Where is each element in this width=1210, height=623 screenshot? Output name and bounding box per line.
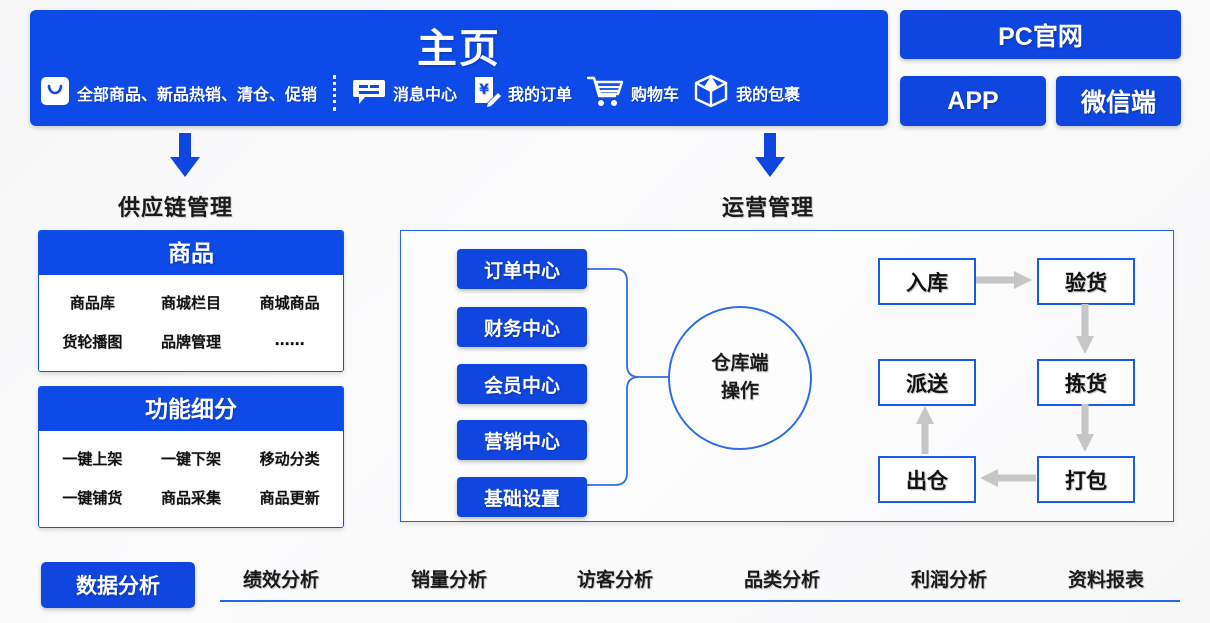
package-box-icon	[693, 74, 729, 113]
card-cell[interactable]: 一键上架	[43, 439, 142, 478]
nav-item-message-center[interactable]: 消息中心	[352, 76, 457, 111]
card-function-body: 一键上架 一键下架 移动分类 一键铺货 商品采集 商品更新	[39, 431, 343, 527]
card-cell[interactable]: 商品库	[43, 283, 142, 322]
pc-official-site-button[interactable]: PC官网	[900, 10, 1181, 59]
nav-item-all-products[interactable]: 全部商品、新品热销、清仓、促销	[40, 76, 317, 111]
tab-sales-analysis[interactable]: 销量分析	[411, 565, 487, 592]
nav-item-my-orders[interactable]: ¥ 我的订单	[471, 75, 572, 112]
card-cell[interactable]: 商品采集	[142, 478, 241, 517]
nav-label-message-center: 消息中心	[393, 81, 457, 105]
ops-button-member-center[interactable]: 会员中心	[457, 364, 587, 404]
arrow-down-picking-to-packing	[1074, 404, 1096, 454]
tab-data-report[interactable]: 资料报表	[1068, 565, 1144, 592]
flow-box-inspect[interactable]: 验货	[1037, 258, 1135, 305]
card-row: 一键上架 一键下架 移动分类	[43, 439, 339, 478]
operations-panel: 订单中心 财务中心 会员中心 营销中心 基础设置 仓库端 操作 入库 验货 派送…	[400, 230, 1174, 522]
flow-box-picking[interactable]: 拣货	[1037, 359, 1135, 406]
ops-button-marketing-center[interactable]: 营销中心	[457, 420, 587, 460]
flow-box-inbound[interactable]: 入库	[878, 258, 976, 305]
card-cell[interactable]: 一键铺货	[43, 478, 142, 517]
card-cell[interactable]: 品牌管理	[142, 322, 241, 361]
card-cell[interactable]: 货轮播图	[43, 322, 142, 361]
brace-connector	[587, 249, 677, 505]
card-row: 货轮播图 品牌管理 ……	[43, 322, 339, 361]
arrow-right-inbound-to-inspect	[976, 269, 1034, 291]
app-button[interactable]: APP	[900, 76, 1046, 126]
card-function-breakdown: 功能细分 一键上架 一键下架 移动分类 一键铺货 商品采集 商品更新	[38, 386, 344, 528]
card-goods-title: 商品	[39, 231, 343, 275]
shopping-cart-icon	[586, 74, 624, 113]
header-nav-bar: 全部商品、新品热销、清仓、促销 消息中心 ¥	[40, 70, 880, 116]
nav-divider	[333, 75, 336, 111]
card-cell[interactable]: 商城商品	[240, 283, 339, 322]
nav-label-all-products: 全部商品、新品热销、清仓、促销	[77, 81, 317, 105]
flow-box-packing[interactable]: 打包	[1037, 456, 1135, 503]
message-bubble-icon	[352, 76, 386, 111]
tab-data-analysis-active[interactable]: 数据分析	[41, 562, 195, 608]
card-cell[interactable]: 商城栏目	[142, 283, 241, 322]
flow-box-dispatch[interactable]: 派送	[878, 359, 976, 406]
nav-label-my-orders: 我的订单	[508, 81, 572, 105]
operations-section-title: 运营管理	[722, 190, 814, 222]
arrow-up-outbound-to-dispatch	[914, 404, 936, 454]
down-arrow-operations	[750, 133, 790, 182]
svg-text:¥: ¥	[479, 82, 489, 98]
yen-order-icon: ¥	[471, 75, 501, 112]
arrow-left-packing-to-outbound	[978, 467, 1036, 489]
card-cell: ……	[240, 322, 339, 361]
down-arrow-supply-chain	[165, 133, 205, 182]
tab-performance-analysis[interactable]: 绩效分析	[243, 565, 319, 592]
card-row: 商品库 商城栏目 商城商品	[43, 283, 339, 322]
tab-visitor-analysis[interactable]: 访客分析	[577, 565, 653, 592]
home-header-panel: 主页 全部商品、新品热销、清仓、促销 消息中心	[30, 10, 888, 126]
flow-box-outbound[interactable]: 出仓	[878, 456, 976, 503]
nav-item-my-packages[interactable]: 我的包裹	[693, 74, 800, 113]
wechat-button[interactable]: 微信端	[1056, 76, 1181, 126]
card-goods: 商品 商品库 商城栏目 商城商品 货轮播图 品牌管理 ……	[38, 230, 344, 372]
page-title: 主页	[30, 16, 888, 74]
tab-category-analysis[interactable]: 品类分析	[744, 565, 820, 592]
tab-underline	[220, 600, 1180, 602]
ops-button-order-center[interactable]: 订单中心	[457, 249, 587, 289]
card-goods-body: 商品库 商城栏目 商城商品 货轮播图 品牌管理 ……	[39, 275, 343, 371]
nav-label-my-packages: 我的包裹	[736, 81, 800, 105]
card-cell[interactable]: 移动分类	[240, 439, 339, 478]
circle-line-2: 操作	[721, 378, 759, 406]
ops-button-basic-settings[interactable]: 基础设置	[457, 477, 587, 517]
circle-line-1: 仓库端	[711, 350, 768, 378]
shopping-bag-icon	[40, 76, 70, 111]
card-cell[interactable]: 商品更新	[240, 478, 339, 517]
nav-label-shopping-cart: 购物车	[631, 81, 679, 105]
warehouse-operation-circle[interactable]: 仓库端 操作	[668, 306, 812, 450]
tab-profit-analysis[interactable]: 利润分析	[911, 565, 987, 592]
arrow-down-inspect-to-picking	[1074, 304, 1096, 356]
nav-item-shopping-cart[interactable]: 购物车	[586, 74, 679, 113]
ops-button-finance-center[interactable]: 财务中心	[457, 307, 587, 347]
card-cell[interactable]: 一键下架	[142, 439, 241, 478]
card-row: 一键铺货 商品采集 商品更新	[43, 478, 339, 517]
card-function-title: 功能细分	[39, 387, 343, 431]
supply-chain-section-title: 供应链管理	[118, 190, 233, 222]
